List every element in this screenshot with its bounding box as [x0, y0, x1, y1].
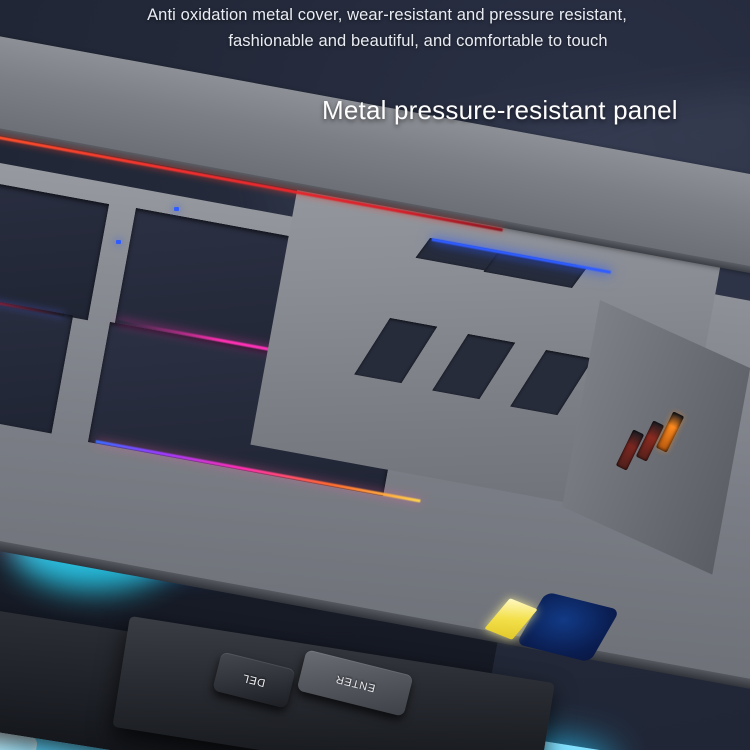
caption-line-2: fashionable and beautiful, and comfortab…: [0, 28, 750, 54]
rgb-dot-blue-1: [174, 207, 179, 211]
keycap-label: DEL: [241, 671, 267, 688]
rgb-dot-blue-2: [116, 240, 121, 244]
product-caption: Anti oxidation metal cover, wear-resista…: [0, 2, 750, 54]
product-headline: Metal pressure-resistant panel: [322, 95, 678, 126]
caption-line-1: Anti oxidation metal cover, wear-resista…: [0, 2, 750, 28]
product-image-stage: F10F11F12PRTSCBACKSPACEENTERINSSCRLKPAUS…: [0, 0, 750, 750]
keycap-label: ENTER: [334, 672, 376, 694]
